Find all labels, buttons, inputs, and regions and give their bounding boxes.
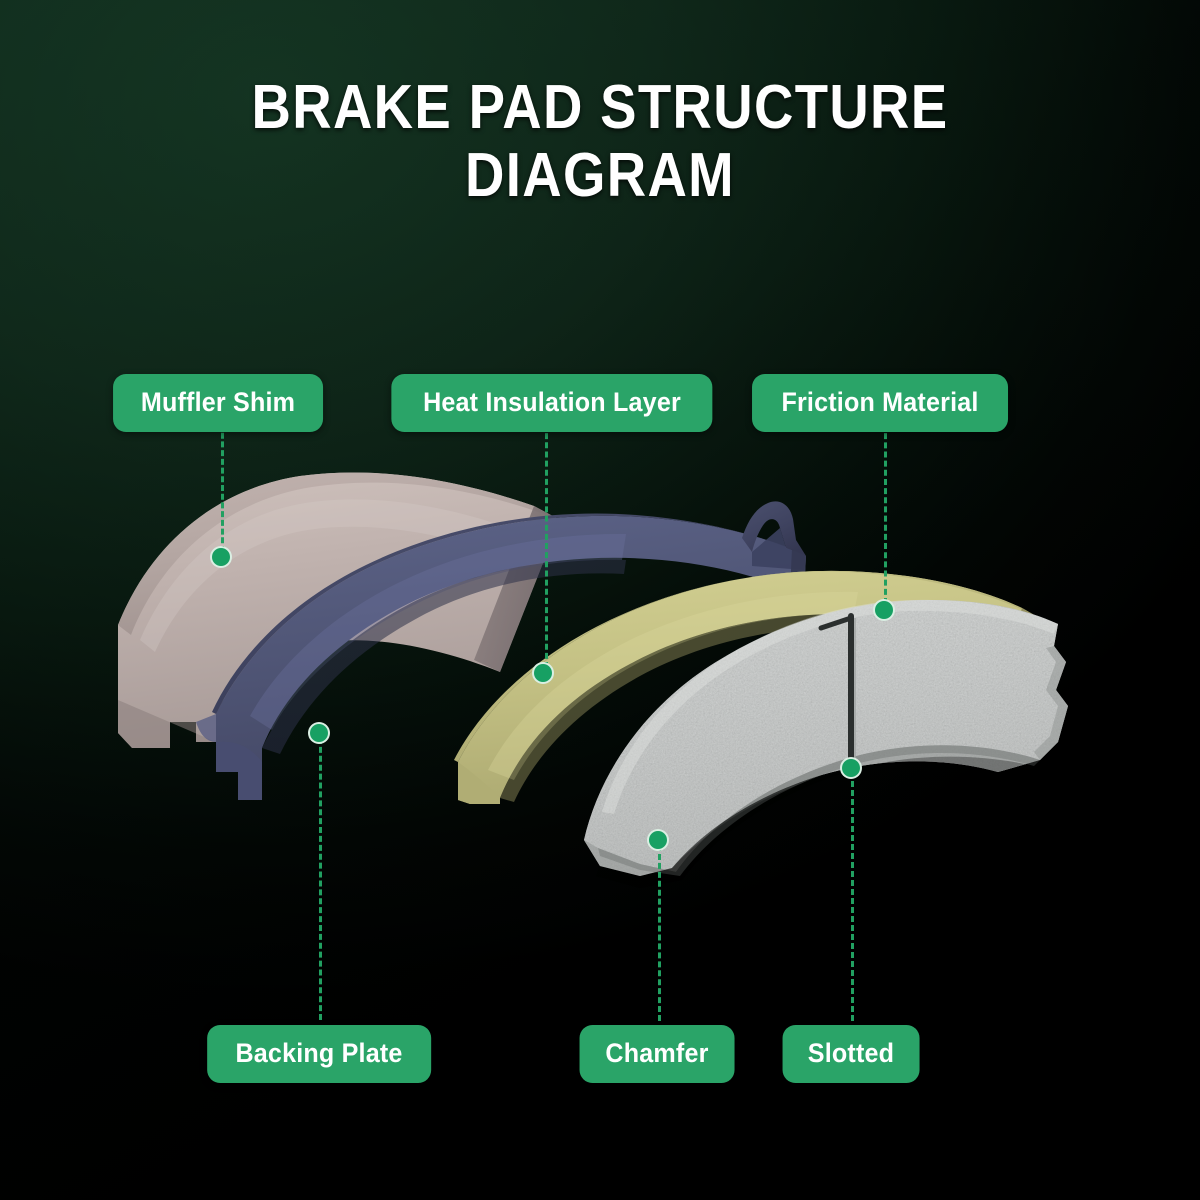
lead-line-backing-plate: [319, 738, 322, 1020]
page-title: BRAKE PAD STRUCTURE DIAGRAM: [0, 74, 1200, 210]
callout-label-friction-material[interactable]: Friction Material: [752, 374, 1008, 432]
callout-dot-chamfer: [647, 829, 669, 851]
callout-label-heat-insulation-layer[interactable]: Heat Insulation Layer: [391, 374, 712, 432]
callout-label-text-muffler-shim: Muffler Shim: [141, 389, 295, 416]
page-title-line-2: DIAGRAM: [72, 142, 1128, 210]
callout-dot-heat-insulation-layer: [532, 662, 554, 684]
callout-dot-friction-material: [873, 599, 895, 621]
lead-line-heat-insulation-layer: [545, 424, 548, 668]
callout-dot-muffler-shim: [210, 546, 232, 568]
lead-line-chamfer: [658, 845, 661, 1021]
callout-label-slotted[interactable]: Slotted: [783, 1025, 920, 1083]
lead-line-muffler-shim: [221, 424, 224, 552]
callout-label-text-chamfer: Chamfer: [605, 1040, 708, 1067]
callout-dot-backing-plate: [308, 722, 330, 744]
callout-dot-slotted: [840, 757, 862, 779]
callout-label-text-slotted: Slotted: [808, 1040, 894, 1067]
callout-label-backing-plate[interactable]: Backing Plate: [207, 1025, 431, 1083]
lead-line-slotted: [851, 772, 854, 1021]
diagram-canvas: BRAKE PAD STRUCTURE DIAGRAM: [0, 0, 1200, 1200]
callout-label-chamfer[interactable]: Chamfer: [580, 1025, 735, 1083]
callout-label-text-heat-insulation-layer: Heat Insulation Layer: [423, 389, 681, 416]
page-title-line-1: BRAKE PAD STRUCTURE: [72, 74, 1128, 142]
callout-label-text-friction-material: Friction Material: [781, 389, 978, 416]
lead-line-friction-material: [884, 424, 887, 604]
callout-label-muffler-shim[interactable]: Muffler Shim: [113, 374, 323, 432]
callout-label-text-backing-plate: Backing Plate: [235, 1040, 402, 1067]
